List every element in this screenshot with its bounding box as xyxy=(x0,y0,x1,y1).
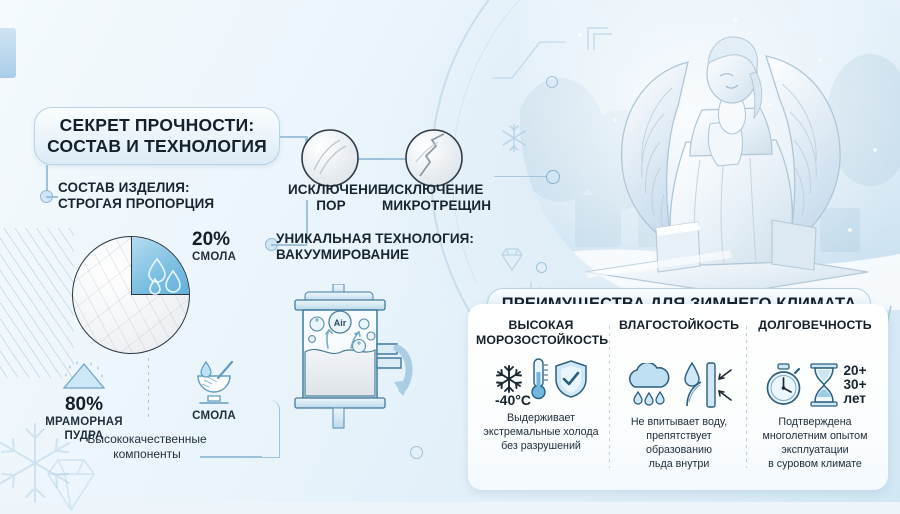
vacuum-heading-line1: УНИКАЛЬНАЯ ТЕХНОЛОГИЯ: xyxy=(276,231,474,247)
snowflake-icon xyxy=(494,364,524,394)
resin-percent-label: 20% СМОЛА xyxy=(192,229,236,263)
resin-foot-label: СМОЛА xyxy=(166,410,262,424)
resin-percent-caption: СМОЛА xyxy=(192,251,236,263)
composition-heading: СОСТАВ ИЗДЕЛИЯ: СТРОГАЯ ПРОПОРЦИЯ xyxy=(58,180,214,213)
durability-years-line3: лет xyxy=(844,392,867,406)
resin-percent-value: 20% xyxy=(192,229,236,251)
column-divider xyxy=(609,326,610,468)
exclusion-cracks-label: ИСКЛЮЧЕНИЕ МИКРОТРЕЩИН xyxy=(382,182,486,215)
benefit-durability-text-line1: Подтверждена xyxy=(752,416,878,430)
pore-free-circle-icon xyxy=(300,128,360,188)
circle-icon xyxy=(546,76,558,88)
benefit-frost-text: Выдерживает экстремальные холода без раз… xyxy=(476,412,606,454)
mortar-pestle-icon xyxy=(188,358,240,408)
corner-accent-bar xyxy=(0,28,16,78)
exclusion-pores-label: ИСКЛЮЧЕНИЕ ПОР xyxy=(288,182,374,215)
vacuum-chamber-illustration: Air xyxy=(289,284,413,454)
benefit-durability-text-line4: в суровом климате xyxy=(752,458,878,472)
benefit-moisture-text-line3: льда внутри xyxy=(616,458,742,472)
vacuum-heading-line2: ВАКУУМИРОВАНИЕ xyxy=(276,247,474,263)
air-bubble-label: Air xyxy=(334,318,347,328)
quality-note-line1: Высококачественные xyxy=(52,432,242,447)
infographic-canvas: СЕКРЕТ ПРОЧНОСТИ: СОСТАВ И ТЕХНОЛОГИЯ СО… xyxy=(0,0,900,502)
circle-icon xyxy=(546,170,560,184)
benefits-panel: ВЫСОКАЯ МОРОЗОСТОЙКОСТЬ xyxy=(468,304,888,490)
powder-pile-icon xyxy=(57,358,111,392)
durability-years-line1: 20+ xyxy=(844,364,867,378)
page-title-line2: СОСТАВ И ТЕХНОЛОГИЯ xyxy=(47,136,267,157)
benefit-durability-text-line3: эксплуатации xyxy=(752,444,878,458)
durability-years-badge: 20+ 30+ лет xyxy=(844,364,867,407)
benefit-frost-text-line3: без разрушений xyxy=(478,440,604,454)
hatch-lines-left xyxy=(0,228,74,378)
benefit-moisture-title: ВЛАГОСТОЙКОСТЬ xyxy=(614,318,744,333)
composition-heading-line1: СОСТАВ ИЗДЕЛИЯ: xyxy=(58,180,214,196)
connector-line xyxy=(46,196,58,198)
vacuum-chamber-svg: Air xyxy=(289,284,413,454)
page-title-line1: СЕКРЕТ ПРОЧНОСТИ: xyxy=(47,115,267,136)
benefit-frost-text-line2: экстремальные холода xyxy=(478,426,604,440)
marble-powder-item: 80% МРАМОРНАЯ ПУДРА xyxy=(30,358,138,443)
benefit-durability-text-line2: многолетним опытом xyxy=(752,430,878,444)
exclusion-pores-line1: ИСКЛЮЧЕНИЕ xyxy=(288,182,374,198)
stopwatch-icon xyxy=(764,363,804,407)
benefit-durability-title: ДОЛГОВЕЧНОСТЬ xyxy=(750,318,880,333)
crack-free-circle-icon xyxy=(404,128,464,188)
benefit-moisture-text: Не впитывает воду, препятствует образова… xyxy=(614,416,744,472)
quality-note-line2: компоненты xyxy=(52,447,242,462)
benefit-column-moisture: ВЛАГОСТОЙКОСТЬ xyxy=(614,318,744,472)
durability-years-line2: 30+ xyxy=(844,378,867,392)
water-repel-icon xyxy=(679,360,735,410)
benefit-moisture-text-line2: препятствует образованию xyxy=(616,430,742,458)
exclusion-pores-line2: ПОР xyxy=(288,198,374,214)
resin-item: СМОЛА xyxy=(166,358,262,424)
benefit-durability-text: Подтверждена многолетним опытом эксплуат… xyxy=(750,416,880,472)
snowflake-icon xyxy=(498,122,530,154)
benefit-frost-text-line1: Выдерживает xyxy=(478,412,604,426)
angel-statue-svg xyxy=(560,14,890,299)
circle-icon xyxy=(536,262,547,273)
benefit-frost-title-line1: ВЫСОКАЯ xyxy=(476,318,606,333)
connector-line xyxy=(46,165,48,193)
marble-percent-value: 80% xyxy=(30,394,138,416)
benefit-column-frost: ВЫСОКАЯ МОРОЗОСТОЙКОСТЬ xyxy=(476,318,606,454)
column-divider xyxy=(746,326,747,468)
bracket-icon xyxy=(492,22,568,82)
page-title: СЕКРЕТ ПРОЧНОСТИ: СОСТАВ И ТЕХНОЛОГИЯ xyxy=(34,107,280,165)
hourglass-icon xyxy=(807,363,841,407)
benefit-column-durability: ДОЛГОВЕЧНОСТЬ xyxy=(750,318,880,472)
rain-cloud-icon xyxy=(623,363,675,407)
composition-pie-chart xyxy=(72,236,190,354)
diamond-icon xyxy=(498,246,526,272)
footer-divider xyxy=(148,358,149,420)
quality-note: Высококачественные компоненты xyxy=(52,432,242,462)
exclusion-cracks-line1: ИСКЛЮЧЕНИЕ xyxy=(382,182,486,198)
diamond-icon xyxy=(34,454,108,514)
benefit-moisture-text-line1: Не впитывает воду, xyxy=(616,416,742,430)
water-drop-icon xyxy=(145,255,185,297)
tick-line xyxy=(494,176,546,177)
vacuum-technology-heading: УНИКАЛЬНАЯ ТЕХНОЛОГИЯ: ВАКУУМИРОВАНИЕ xyxy=(276,231,474,264)
composition-heading-line2: СТРОГАЯ ПРОПОРЦИЯ xyxy=(58,196,214,212)
benefit-frost-title-line2: МОРОЗОСТОЙКОСТЬ xyxy=(476,333,606,348)
exclusion-cracks-line2: МИКРОТРЕЩИН xyxy=(382,198,486,214)
angel-statue-illustration xyxy=(560,14,890,299)
thermometer-icon xyxy=(528,356,550,402)
shield-check-icon xyxy=(554,359,588,399)
marble-label-line1: МРАМОРНАЯ xyxy=(30,416,138,430)
